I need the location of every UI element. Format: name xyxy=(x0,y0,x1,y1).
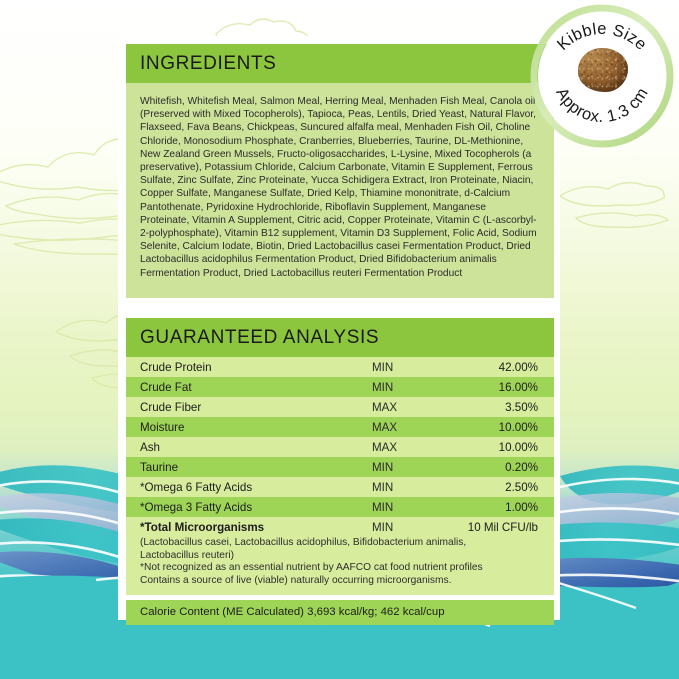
analysis-qualifier: MIN xyxy=(372,497,450,517)
analysis-qualifier: MIN xyxy=(372,477,450,497)
calorie-content-row: Calorie Content (ME Calculated) 3,693 kc… xyxy=(126,600,554,625)
analysis-qualifier: MAX xyxy=(372,397,450,417)
analysis-row: Crude FatMIN16.00% xyxy=(126,377,554,397)
analysis-qualifier: MIN xyxy=(372,357,450,377)
kibble-pellet-icon xyxy=(578,48,628,92)
analysis-value: 16.00% xyxy=(450,377,554,397)
analysis-value: 10.00% xyxy=(450,437,554,457)
analysis-nutrient-name: Ash xyxy=(126,437,372,457)
ingredients-text: Whitefish, Whitefish Meal, Salmon Meal, … xyxy=(126,83,554,298)
analysis-nutrient-name: Moisture xyxy=(126,417,372,437)
guaranteed-analysis-table: Crude ProteinMIN42.00%Crude FatMIN16.00%… xyxy=(126,357,554,537)
analysis-nutrient-name: Crude Protein xyxy=(126,357,372,377)
ingredients-panel: INGREDIENTS Whitefish, Whitefish Meal, S… xyxy=(126,44,554,298)
analysis-row: *Omega 3 Fatty AcidsMIN1.00% xyxy=(126,497,554,517)
analysis-nutrient-name: Taurine xyxy=(126,457,372,477)
analysis-qualifier: MAX xyxy=(372,417,450,437)
analysis-row: Crude FiberMAX3.50% xyxy=(126,397,554,417)
analysis-qualifier: MIN xyxy=(372,377,450,397)
analysis-qualifier: MAX xyxy=(372,437,450,457)
analysis-row: *Omega 6 Fatty AcidsMIN2.50% xyxy=(126,477,554,497)
analysis-nutrient-name: Crude Fat xyxy=(126,377,372,397)
guaranteed-analysis-heading: GUARANTEED ANALYSIS xyxy=(126,318,554,357)
analysis-row: MoistureMAX10.00% xyxy=(126,417,554,437)
analysis-value: 10.00% xyxy=(450,417,554,437)
analysis-qualifier: MIN xyxy=(372,517,450,537)
analysis-value: 3.50% xyxy=(450,397,554,417)
analysis-row: *Total MicroorganismsMIN10 Mil CFU/lb xyxy=(126,517,554,537)
analysis-row: Crude ProteinMIN42.00% xyxy=(126,357,554,377)
analysis-nutrient-name: *Omega 6 Fatty Acids xyxy=(126,477,372,497)
note-line: *Not recognized as an essential nutrient… xyxy=(140,562,538,575)
note-line: (Lactobacillus casei, Lactobacillus acid… xyxy=(140,537,538,550)
analysis-value: 1.00% xyxy=(450,497,554,517)
note-line: Contains a source of live (viable) natur… xyxy=(140,575,538,588)
analysis-value: 0.20% xyxy=(450,457,554,477)
analysis-nutrient-name: *Total Microorganisms xyxy=(126,517,372,537)
analysis-value: 42.00% xyxy=(450,357,554,377)
analysis-nutrient-name: *Omega 3 Fatty Acids xyxy=(126,497,372,517)
analysis-nutrient-name: Crude Fiber xyxy=(126,397,372,417)
analysis-qualifier: MIN xyxy=(372,457,450,477)
kibble-size-badge: Kibble Size Approx. 1.3 cm xyxy=(528,2,676,150)
analysis-value: 10 Mil CFU/lb xyxy=(450,517,554,537)
ingredients-heading: INGREDIENTS xyxy=(126,44,554,83)
analysis-notes: (Lactobacillus casei, Lactobacillus acid… xyxy=(126,537,554,595)
guaranteed-analysis-panel: GUARANTEED ANALYSIS Crude ProteinMIN42.0… xyxy=(126,318,554,625)
analysis-value: 2.50% xyxy=(450,477,554,497)
pet-food-label-page: INGREDIENTS Whitefish, Whitefish Meal, S… xyxy=(0,0,679,679)
note-line: Lactobacillus reuteri) xyxy=(140,550,538,563)
analysis-row: AshMAX10.00% xyxy=(126,437,554,457)
analysis-row: TaurineMIN0.20% xyxy=(126,457,554,477)
